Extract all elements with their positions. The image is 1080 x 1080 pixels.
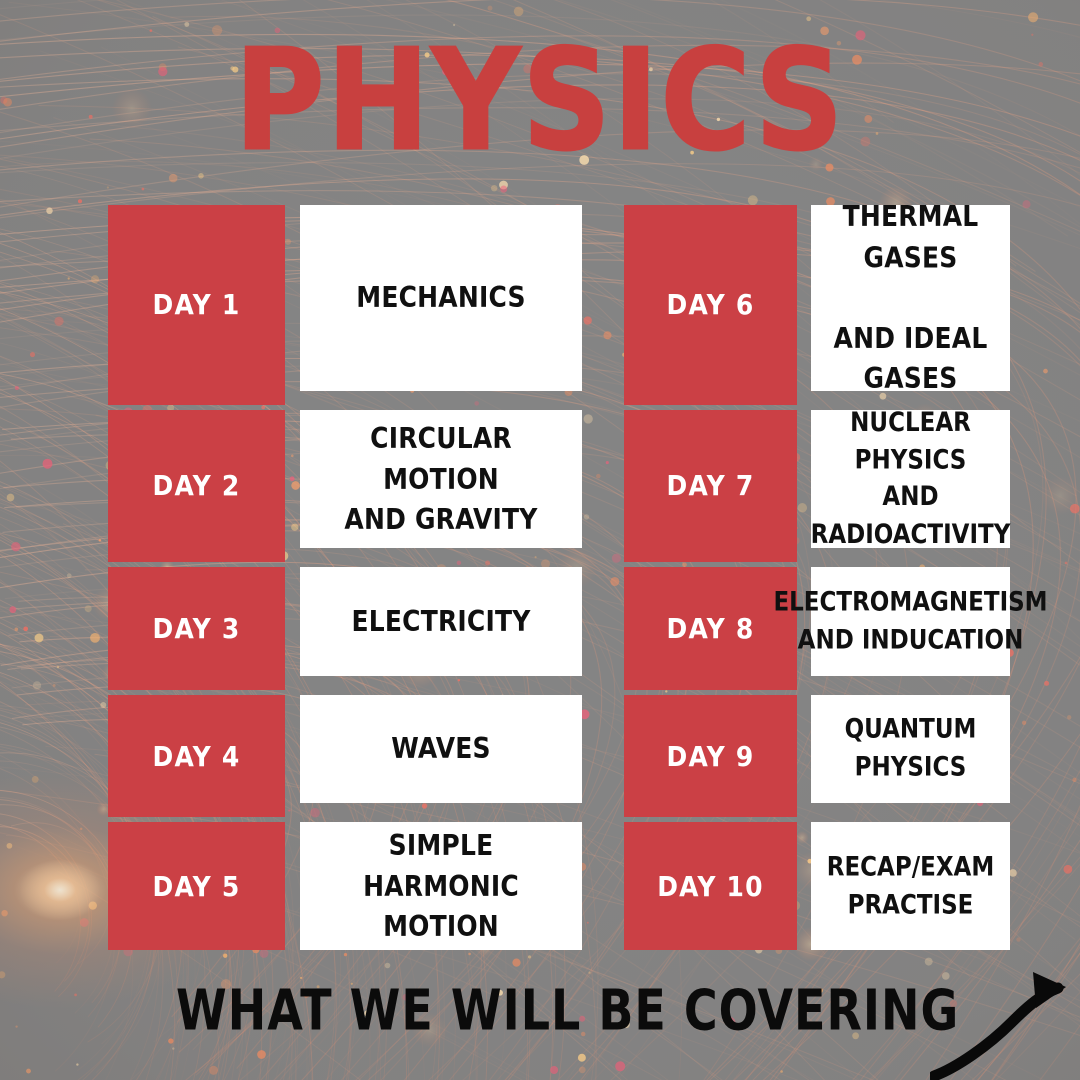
day-cell-5[interactable]: DAY 5: [108, 822, 285, 950]
day-cell-2[interactable]: DAY 2: [108, 410, 285, 563]
topic-label-6: THERMAL GASES AND IDEAL GASES: [821, 197, 1000, 399]
topic-label-2: CIRCULAR MOTION AND GRAVITY: [310, 418, 572, 539]
page-title: PHYSICS: [0, 28, 1080, 174]
day-cell-10[interactable]: DAY 10: [624, 822, 797, 950]
topic-cell-10[interactable]: RECAP/EXAM PRACTISE: [811, 822, 1010, 950]
day-cell-9[interactable]: DAY 9: [624, 695, 797, 818]
day-label-8: DAY 8: [667, 612, 755, 644]
gap-left-5: [285, 822, 300, 950]
day-label-4: DAY 4: [153, 740, 241, 772]
topic-cell-9[interactable]: QUANTUM PHYSICS: [811, 695, 1010, 804]
day-label-1: DAY 1: [153, 289, 241, 321]
gap-left-1: [285, 205, 300, 410]
schedule-grid: DAY 1 MECHANICS DAY 6 THERMAL GASES AND …: [108, 205, 1010, 950]
topic-label-9: QUANTUM PHYSICS: [821, 712, 1000, 786]
topic-cell-4[interactable]: WAVES: [300, 695, 582, 804]
day-cell-3[interactable]: DAY 3: [108, 567, 285, 690]
topic-cell-3[interactable]: ELECTRICITY: [300, 567, 582, 676]
topic-label-10: RECAP/EXAM PRACTISE: [821, 849, 1000, 923]
gap-mid-2: [582, 410, 624, 568]
gap-mid-5: [582, 822, 624, 950]
topic-cell-8[interactable]: ELECTROMAGNETISM AND INDUCATION: [811, 567, 1010, 676]
topic-label-7: NUCLEAR PHYSICS AND RADIOACTIVITY: [811, 404, 1011, 553]
topic-cell-1[interactable]: MECHANICS: [300, 205, 582, 391]
day-label-9: DAY 9: [667, 740, 755, 772]
day-cell-7[interactable]: DAY 7: [624, 410, 797, 563]
gap-left-4: [285, 695, 300, 823]
footer-caption: WHAT WE WILL BE COVERING: [176, 977, 959, 1043]
topic-label-8: ELECTROMAGNETISM AND INDUCATION: [773, 584, 1047, 658]
day-label-10: DAY 10: [657, 870, 764, 902]
topic-label-5: SIMPLE HARMONIC MOTION: [310, 825, 572, 946]
topic-cell-5[interactable]: SIMPLE HARMONIC MOTION: [300, 822, 582, 950]
gap-mid-3: [582, 567, 624, 695]
topic-label-1: MECHANICS: [356, 278, 525, 318]
gap-mid-4: [582, 695, 624, 823]
topic-label-4: WAVES: [391, 729, 491, 769]
day-cell-6[interactable]: DAY 6: [624, 205, 797, 405]
day-label-6: DAY 6: [667, 289, 755, 321]
day-cell-4[interactable]: DAY 4: [108, 695, 285, 818]
day-label-5: DAY 5: [153, 870, 241, 902]
topic-cell-7[interactable]: NUCLEAR PHYSICS AND RADIOACTIVITY: [811, 410, 1010, 549]
topic-label-3: ELECTRICITY: [351, 601, 530, 641]
topic-cell-6[interactable]: THERMAL GASES AND IDEAL GASES: [811, 205, 1010, 391]
day-label-7: DAY 7: [667, 470, 755, 502]
gap-right-5: [797, 822, 811, 950]
topic-cell-2[interactable]: CIRCULAR MOTION AND GRAVITY: [300, 410, 582, 549]
day-label-3: DAY 3: [153, 612, 241, 644]
poster-canvas: PHYSICS DAY 1 MECHANICS DAY 6 THERMAL GA…: [0, 0, 1080, 1080]
day-label-2: DAY 2: [153, 470, 241, 502]
gap-right-2: [797, 410, 811, 568]
gap-right-4: [797, 695, 811, 823]
gap-left-3: [285, 567, 300, 695]
day-cell-1[interactable]: DAY 1: [108, 205, 285, 405]
gap-left-2: [285, 410, 300, 568]
gap-right-1: [797, 205, 811, 410]
gap-mid-1: [582, 205, 624, 410]
day-cell-8[interactable]: DAY 8: [624, 567, 797, 690]
